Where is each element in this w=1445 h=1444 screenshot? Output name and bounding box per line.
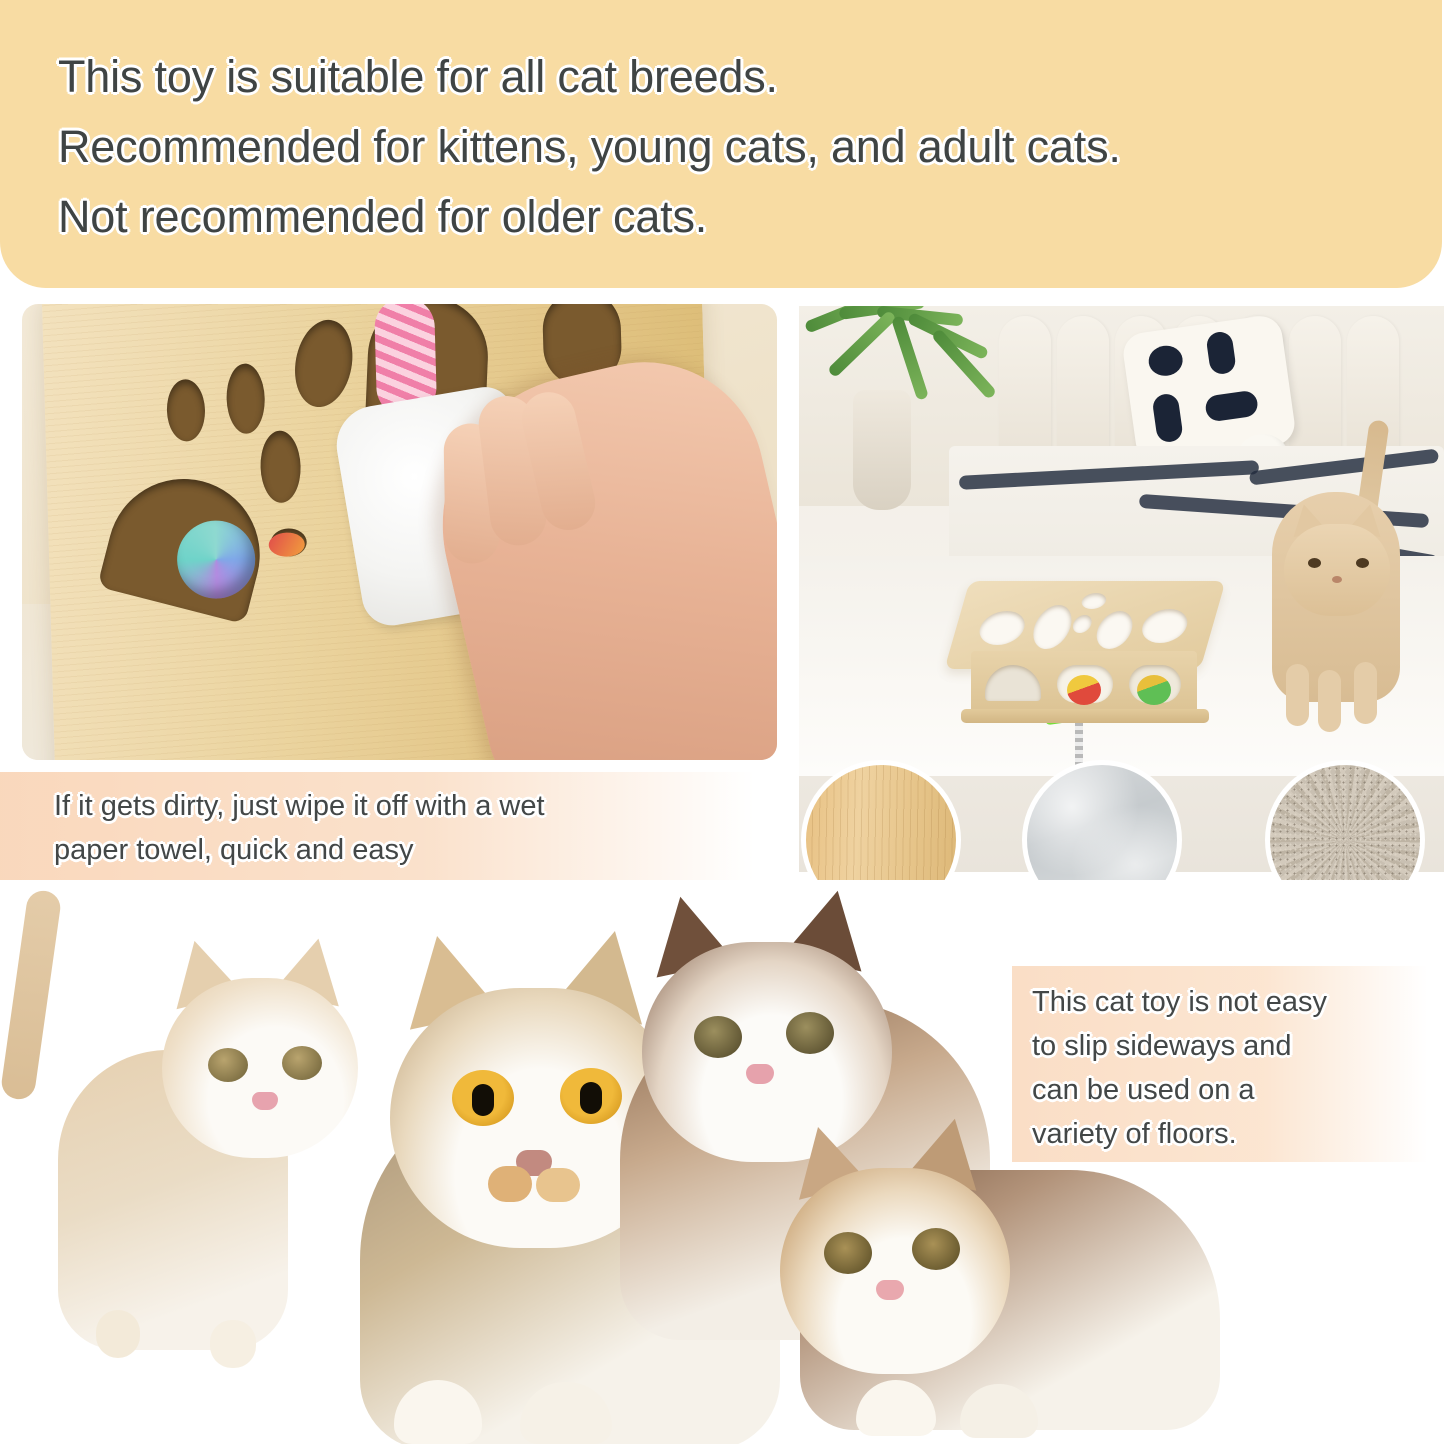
ginger-kitten-eye-left [824,1232,872,1274]
toe-cutout-2 [226,363,266,434]
product-infographic: This toy is suitable for all cat breeds.… [0,0,1445,1444]
brown-kitten-nose [746,1064,774,1084]
toe-cutout-5 [288,315,359,412]
kitten-paw-1 [96,1310,140,1358]
brown-kitten-eye-right [786,1012,834,1054]
ginger-kitten-eye-right [912,1228,960,1270]
cats-group-photo [0,880,1445,1444]
slip-caption: This cat toy is not easy to slip sideway… [1012,966,1432,1162]
banner-line-3: Not recommended for older cats. [58,182,1442,252]
clean-caption-text: If it gets dirty, just wipe it off with … [54,784,770,872]
kitten-eye-right [282,1046,322,1080]
ginger-kitten-nose [876,1280,904,1300]
kitten-paw-2 [210,1320,256,1368]
brown-kitten-eye-left [694,1016,742,1058]
kitten-tail [0,889,62,1102]
ginger-cat [1256,426,1416,716]
tabby-pupil-right [580,1082,602,1114]
toe-cutout-1 [166,379,206,442]
tabby-muzzle-left [488,1166,532,1202]
banner-line-1: This toy is suitable for all cat breeds. [58,42,1442,112]
cat-toy-box [949,581,1221,741]
vase [853,390,911,510]
living-room-photo [799,306,1444,776]
header-banner: This toy is suitable for all cat breeds.… [0,0,1442,288]
kitten-nose [252,1092,278,1110]
toy-box-base [961,709,1209,723]
clean-caption: If it gets dirty, just wipe it off with … [0,772,770,880]
toe-cutout-3 [260,430,302,503]
tabby-pupil-left [472,1084,494,1116]
ginger-kitten-head [780,1168,1010,1374]
slip-caption-text: This cat toy is not easy to slip sideway… [1032,980,1432,1156]
cat-head [1284,524,1390,616]
kitten-eye-left [208,1048,248,1082]
banner-line-2: Recommended for kittens, young cats, and… [58,112,1442,182]
toy-box-front [971,651,1197,713]
tabby-muzzle-right [536,1168,580,1202]
kitten-head [162,978,358,1158]
wipe-clean-photo [22,304,777,760]
fern-plant [809,306,1019,460]
